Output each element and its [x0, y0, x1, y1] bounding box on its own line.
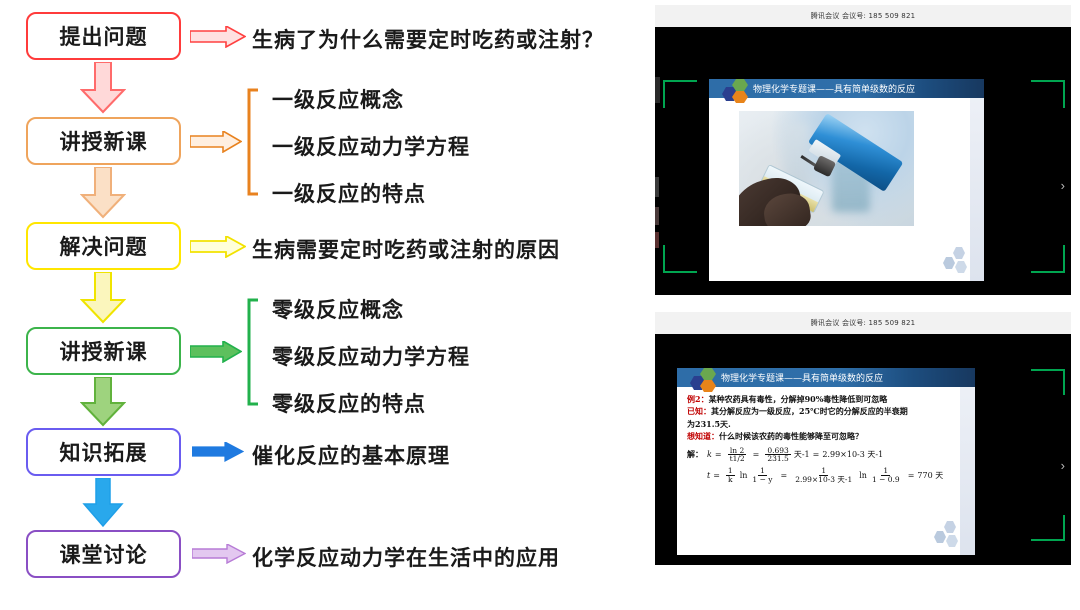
share-corner-bottom-right — [1031, 245, 1065, 273]
lesson-flowchart: 提出问题 讲授新课 解决问题 讲授新课 — [0, 0, 650, 610]
share-corner-top-right — [1031, 369, 1065, 395]
slide-formula-2: t = 1 k ln 1 1 − y = 1 — [687, 467, 952, 484]
screenshot-root: 提出问题 讲授新课 解决问题 讲授新课 — [0, 0, 1080, 610]
next-slide-chevron[interactable]: › — [1061, 179, 1065, 192]
flow-branch-item-first-order-1: 一级反应概念 — [272, 84, 404, 114]
flow-branch-item-zero-order-2: 零级反应动力学方程 — [272, 341, 470, 371]
flow-node-label: 知识拓展 — [60, 437, 148, 467]
meeting-title-bar: 腾讯会议 会议号: 185 509 821 — [655, 5, 1071, 28]
flow-node-label: 讲授新课 — [60, 336, 148, 366]
slide-line-given-cont: 为231.5天. — [687, 418, 952, 430]
share-corner-bottom-right — [1031, 515, 1065, 541]
slide-line-tag: 已知： — [687, 406, 711, 416]
flow-branch-text-knowledge: 催化反应的基本原理 — [252, 440, 450, 470]
flow-branch-arrow-solve-problem — [190, 236, 246, 258]
meeting-id-text: 腾讯会议 会议号: 185 509 821 — [811, 11, 916, 21]
flow-branch-arrow-discussion — [192, 544, 246, 564]
flow-branch-text-solve-problem: 生病需要定时吃药或注射的原因 — [252, 234, 560, 264]
flow-branch-item-zero-order-1: 零级反应概念 — [272, 294, 404, 324]
flow-arrow-down-4 — [80, 377, 126, 427]
formula1-fraction-1: ln 2 t1/2 — [728, 447, 747, 464]
shared-slide: 物理化学专题课——具有简单级数的反应 — [709, 79, 984, 281]
flow-node-label: 解决问题 — [60, 231, 148, 261]
flow-node-teach-new-lesson-2[interactable]: 讲授新课 — [26, 327, 181, 375]
slide-line-example: 例2：某种农药具有毒性，分解掉90%毒性降低到可忽略 — [687, 393, 952, 405]
meeting-screenshot-bottom[interactable]: 腾讯会议 会议号: 185 509 821 物理化学专题课——具有简单级数的反应… — [655, 312, 1071, 565]
participant-strip-artifact — [655, 232, 659, 248]
formula1-unit: 天-1 — [794, 449, 810, 460]
hexagon-logo-icon — [712, 79, 752, 109]
slide-text-body: 例2：某种农药具有毒性，分解掉90%毒性降低到可忽略 已知：其分解反应为一级反应… — [677, 387, 960, 555]
slide-line-question: 想知道：什么时候该农药的毒性能够降至可忽略？ — [687, 430, 952, 442]
fraction-denominator: 1 − y — [750, 476, 774, 484]
flow-arrow-down-3 — [80, 272, 126, 324]
formula2-lhs: t — [707, 471, 710, 480]
flow-arrow-down-1 — [80, 62, 126, 114]
fraction-denominator: 231.5 — [765, 455, 790, 463]
flow-node-label: 提出问题 — [60, 21, 148, 51]
participant-strip-artifact — [655, 207, 659, 225]
slide-title: 物理化学专题课——具有简单级数的反应 — [721, 371, 883, 384]
flow-branch-item-first-order-2: 一级反应动力学方程 — [272, 131, 470, 161]
slide-title: 物理化学专题课——具有简单级数的反应 — [753, 82, 915, 95]
flow-bracket-first-order — [244, 88, 260, 196]
flow-node-teach-new-lesson-1[interactable]: 讲授新课 — [26, 117, 181, 165]
flow-node-solve-problem[interactable]: 解决问题 — [26, 222, 181, 270]
share-stage: 物理化学专题课——具有简单级数的反应 例2：某种农药具有毒性，分解掉90%毒性降… — [655, 334, 1071, 565]
fraction-denominator: t1/2 — [728, 455, 747, 463]
meeting-screenshot-top[interactable]: 腾讯会议 会议号: 185 509 821 物理化学专题课——具有简单级数的反应 — [655, 5, 1071, 295]
formula1-result: 2.99×10-3 天-1 — [822, 449, 883, 460]
formula2-fraction-2: 1 2.99×10-3 天-1 — [793, 467, 854, 484]
flow-arrow-down-5 — [82, 478, 128, 528]
share-corner-top-left — [663, 80, 697, 108]
formula1-lhs: k — [707, 450, 712, 459]
slide-line-tag: 例2： — [687, 394, 709, 404]
slide-line-text: 为231.5天. — [687, 419, 731, 429]
flow-node-raise-question[interactable]: 提出问题 — [26, 12, 181, 60]
fraction-denominator: 1 − 0.9 — [870, 476, 902, 484]
flow-branch-arrow-raise-question — [190, 26, 246, 48]
flow-branch-text-discussion: 化学反应动力学在生活中的应用 — [252, 542, 560, 572]
formula2-ln-fraction-2: 1 1 − 0.9 — [870, 467, 902, 484]
fraction-denominator: k — [726, 476, 735, 484]
slide-formula-1: 解： k = ln 2 t1/2 = 0.693 231.5 天-1 — [687, 447, 952, 464]
formula1-fraction-2: 0.693 231.5 — [765, 447, 790, 464]
formula2-result: 770 天 — [917, 470, 943, 481]
slide-line-text: 某种农药具有毒性，分解掉90%毒性降低到可忽略 — [709, 394, 888, 404]
share-corner-bottom-left — [663, 245, 697, 273]
flow-bracket-zero-order — [244, 298, 260, 406]
participant-strip-artifact — [655, 77, 660, 103]
fraction-denominator: 2.99×10-3 天-1 — [793, 476, 854, 484]
shared-slide: 物理化学专题课——具有简单级数的反应 例2：某种农药具有毒性，分解掉90%毒性降… — [677, 368, 975, 555]
slide-photo-injection — [739, 111, 914, 226]
share-corner-top-right — [1031, 80, 1065, 108]
flow-branch-arrow-first-order — [190, 131, 242, 153]
flow-node-knowledge-expansion[interactable]: 知识拓展 — [26, 428, 181, 476]
slide-header-bar: 物理化学专题课——具有简单级数的反应 — [677, 368, 975, 387]
flow-node-label: 课堂讨论 — [60, 539, 148, 569]
flow-branch-item-first-order-3: 一级反应的特点 — [272, 178, 426, 208]
hexagon-decoration-icon — [925, 519, 967, 551]
flow-branch-arrow-zero-order — [190, 341, 242, 363]
flow-node-class-discussion[interactable]: 课堂讨论 — [26, 530, 181, 578]
slide-line-text: 其分解反应为一级反应，25℃时它的分解反应的半衰期 — [711, 406, 908, 416]
slide-line-given: 已知：其分解反应为一级反应，25℃时它的分解反应的半衰期 — [687, 405, 952, 417]
formula2-ln-fraction-1: 1 1 − y — [750, 467, 774, 484]
meeting-title-bar: 腾讯会议 会议号: 185 509 821 — [655, 312, 1071, 335]
flow-branch-text-raise-question: 生病了为什么需要定时吃药或注射？ — [252, 24, 604, 54]
meeting-id-text: 腾讯会议 会议号: 185 509 821 — [811, 318, 916, 328]
next-slide-chevron[interactable]: › — [1061, 459, 1065, 472]
share-stage: 物理化学专题课——具有简单级数的反应 — [655, 27, 1071, 295]
formula2-fraction-1: 1 k — [726, 467, 735, 484]
flow-branch-arrow-knowledge — [192, 442, 244, 462]
hexagon-decoration-icon — [934, 245, 976, 277]
flow-arrow-down-2 — [80, 167, 126, 219]
solution-label: 解： — [687, 449, 703, 460]
flow-node-label: 讲授新课 — [60, 126, 148, 156]
flow-branch-item-zero-order-3: 零级反应的特点 — [272, 388, 426, 418]
slide-line-tag: 想知道： — [687, 431, 719, 441]
participant-strip-artifact — [655, 177, 659, 197]
slide-line-text: 什么时候该农药的毒性能够降至可忽略？ — [719, 431, 863, 441]
